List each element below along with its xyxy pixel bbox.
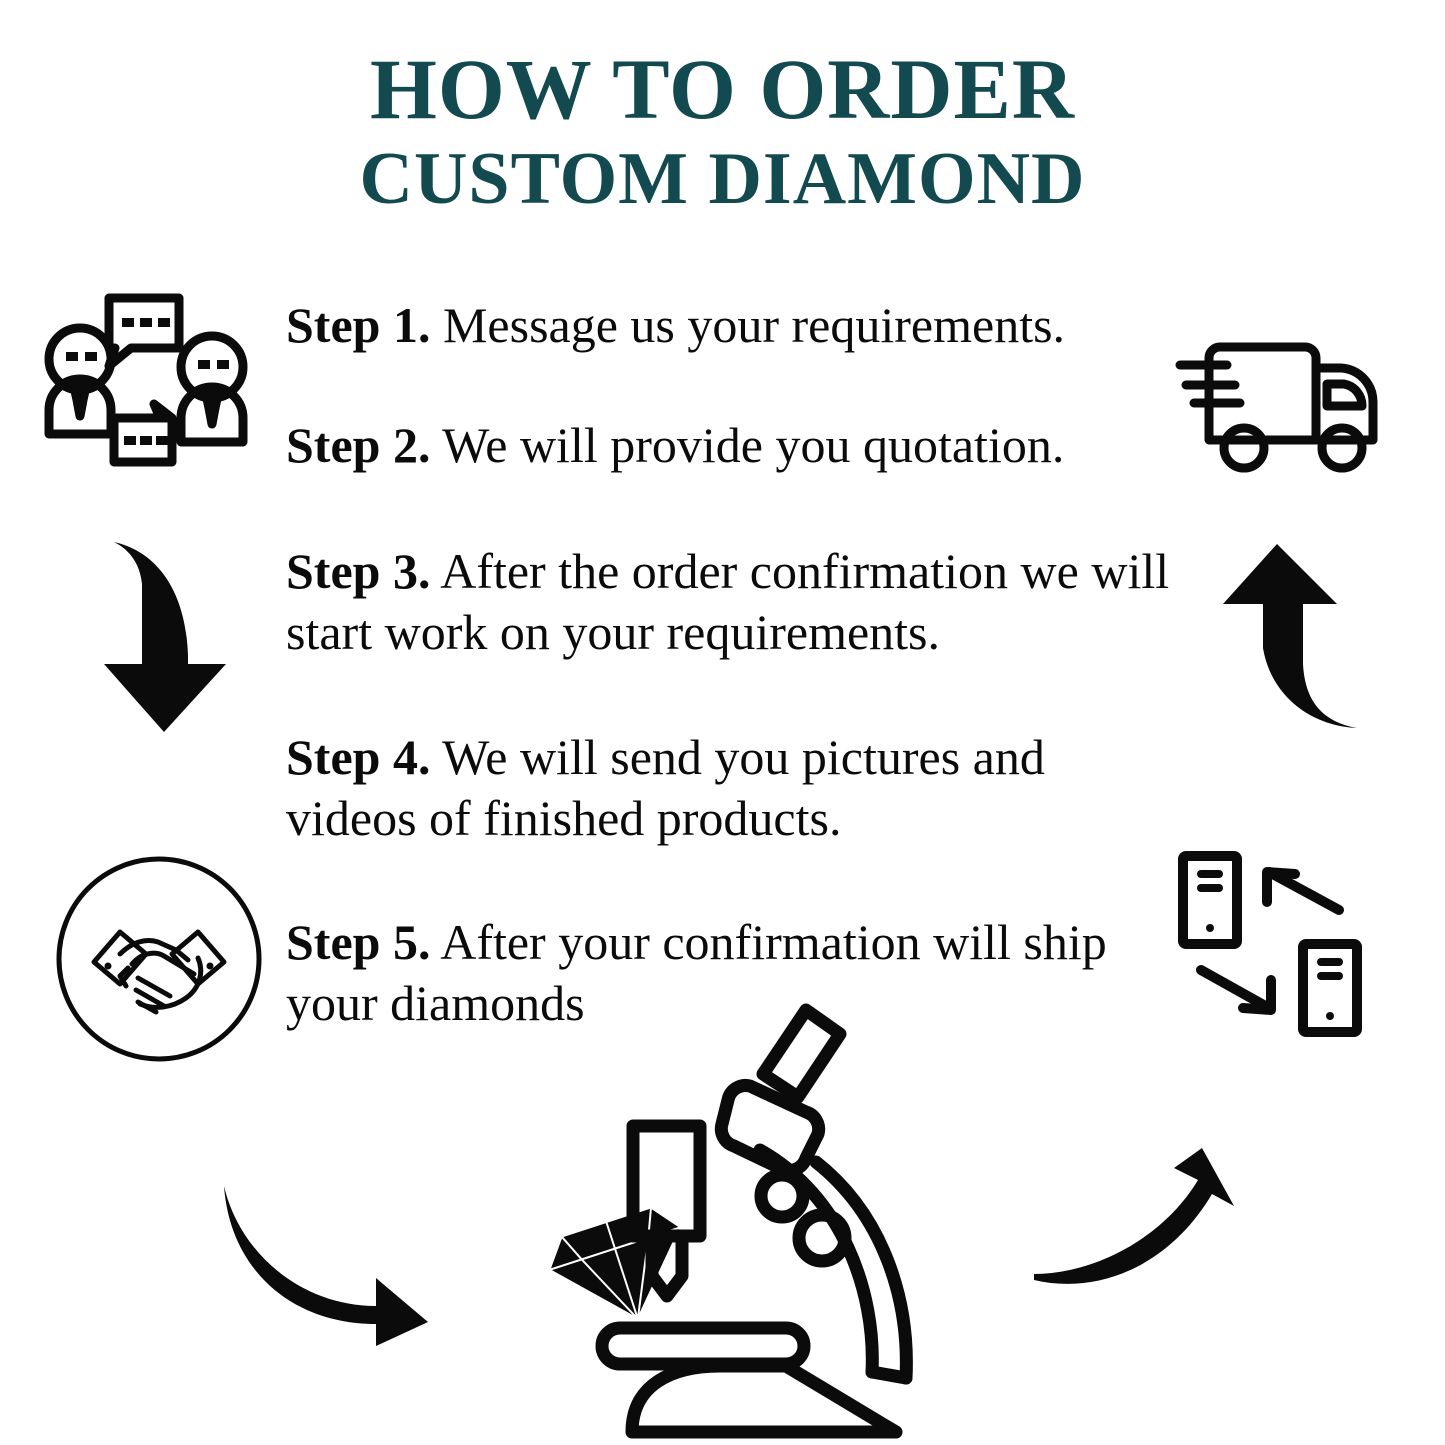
step-2-text: We will provide you quotation.: [430, 417, 1064, 473]
title-line-1: HOW TO ORDER: [0, 46, 1445, 132]
phone-transfer-icon: [1163, 848, 1383, 1058]
microscope-icon: [610, 1000, 940, 1445]
step-1: Step 1. Message us your requirements.: [286, 295, 1186, 356]
step-5-label: Step 5.: [286, 914, 430, 970]
step-1-text: Message us your requirements.: [430, 297, 1065, 353]
down-arrow-icon: [96, 536, 256, 741]
step-2-label: Step 2.: [286, 417, 430, 473]
step-4: Step 4. We will send you pictures and vi…: [286, 727, 1186, 848]
step-1-label: Step 1.: [286, 297, 430, 353]
step-2: Step 2. We will provide you quotation.: [286, 415, 1186, 476]
title-line-2: CUSTOM DIAMOND: [0, 142, 1445, 216]
up-arrow-icon: [1215, 536, 1375, 741]
delivery-truck-icon: [1178, 330, 1393, 480]
infographic-canvas: HOW TO ORDER CUSTOM DIAMOND Step 1. Mess…: [0, 0, 1445, 1445]
handshake-circle-icon: [54, 854, 264, 1064]
step-3: Step 3. After the order confirmation we …: [286, 541, 1186, 662]
step-4-label: Step 4.: [286, 729, 430, 785]
page-title: HOW TO ORDER CUSTOM DIAMOND: [0, 46, 1445, 216]
curved-arrow-right-icon: [206, 1178, 436, 1348]
step-3-label: Step 3.: [286, 543, 430, 599]
two-people-chat-icon: [36, 282, 256, 477]
curved-arrow-up-right-icon: [1022, 1146, 1262, 1316]
